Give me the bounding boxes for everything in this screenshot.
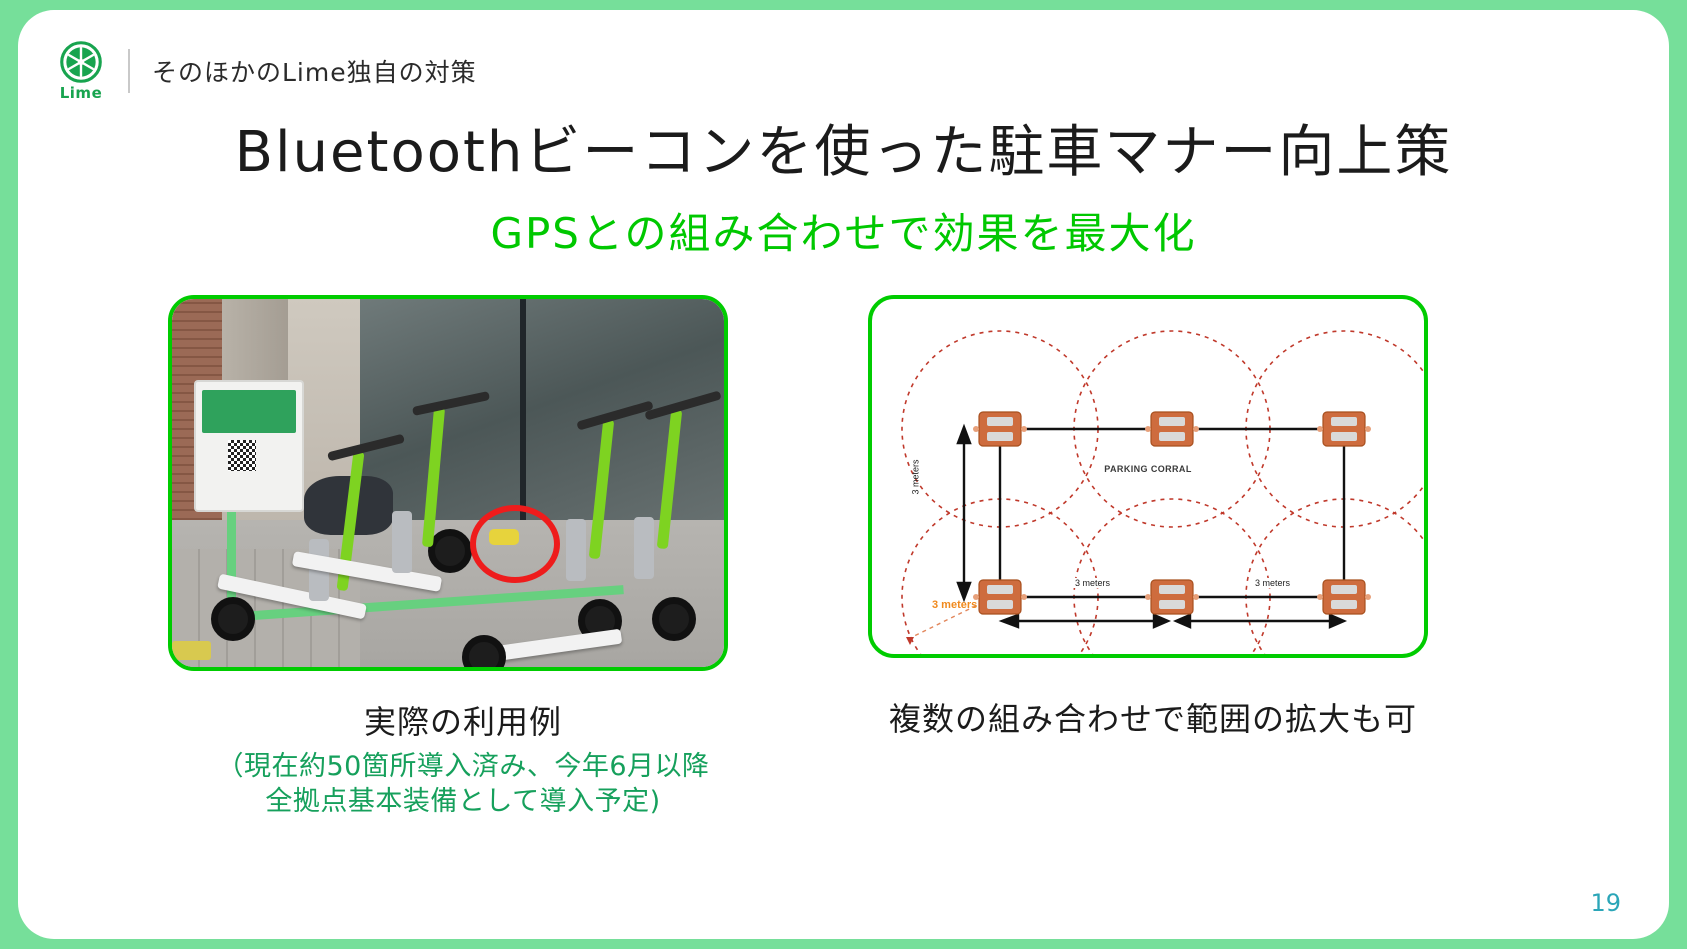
- lime-wordmark: Lime: [60, 86, 103, 101]
- tactile-paving: [172, 641, 211, 659]
- slide-background: Lime そのほかのLime独自の対策 Bluetoothビーコンを使った駐車マ…: [0, 0, 1687, 949]
- horizontal-dimension-arrows: [1002, 615, 1344, 627]
- page-number: 19: [1590, 889, 1621, 917]
- qr-code: [228, 440, 256, 471]
- scooter-battery: [566, 519, 586, 581]
- beacon-device: [1145, 580, 1199, 614]
- diagram-label-horizontal-spacing-right: 3 meters: [1252, 578, 1293, 588]
- scooter-battery: [392, 511, 412, 573]
- right-column: PARKING CORRAL 3 meters 3 meters 3 meter…: [868, 295, 1438, 740]
- page-subtitle: GPSとの組み合わせで効果を最大化: [18, 200, 1669, 261]
- scooter-wheel: [428, 529, 472, 573]
- red-circle-highlight: [470, 505, 560, 583]
- breadcrumb: そのほかのLime独自の対策: [152, 53, 477, 89]
- right-caption-main: 複数の組み合わせで範囲の拡大も可: [868, 694, 1438, 740]
- scooter-wheel: [652, 597, 696, 641]
- photo-content: [172, 299, 724, 667]
- green-parking-marking-vertical: [227, 512, 236, 608]
- left-caption-sub-line1: （現在約50箇所導入済み、今年6月以降: [168, 749, 758, 784]
- scooter-wheel: [462, 635, 506, 671]
- slide-panel: Lime そのほかのLime独自の対策 Bluetoothビーコンを使った駐車マ…: [18, 10, 1669, 939]
- lime-a-frame-sign: [194, 380, 304, 512]
- lime-citrus-icon: [59, 40, 103, 84]
- header-divider: [128, 49, 130, 93]
- beacon-device: [973, 412, 1027, 446]
- page-title: Bluetoothビーコンを使った駐車マナー向上策: [18, 107, 1669, 188]
- lime-scooter-parking-photo: [168, 295, 728, 671]
- diagram-label-horizontal-spacing-left: 3 meters: [1072, 578, 1113, 588]
- left-caption-main: 実際の利用例: [168, 697, 758, 743]
- beacon-devices: [973, 412, 1371, 614]
- diagram-label-vertical-spacing: 3 meters: [911, 459, 921, 494]
- diagram-label-radius: 3 meters: [932, 599, 977, 611]
- slide-header: Lime そのほかのLime独自の対策: [48, 40, 477, 101]
- left-caption-sub: （現在約50箇所導入済み、今年6月以降 全拠点基本装備として導入予定): [168, 749, 758, 819]
- scooter-wheel: [211, 597, 255, 641]
- left-caption-sub-line2: 全拠点基本装備として導入予定): [168, 784, 758, 819]
- beacon-device: [1317, 580, 1371, 614]
- beacon-device: [1317, 412, 1371, 446]
- sign-header-band: [202, 390, 296, 434]
- parking-corral-beacon-layout-diagram: PARKING CORRAL 3 meters 3 meters 3 meter…: [868, 295, 1428, 658]
- diagram-content: PARKING CORRAL 3 meters 3 meters 3 meter…: [872, 299, 1424, 654]
- vertical-dimension-arrow: [958, 427, 970, 599]
- left-column: 実際の利用例 （現在約50箇所導入済み、今年6月以降 全拠点基本装備として導入予…: [168, 295, 758, 819]
- lime-logo: Lime: [48, 40, 114, 101]
- beacon-device: [973, 580, 1027, 614]
- diagram-label-parking-corral: PARKING CORRAL: [1104, 464, 1191, 474]
- scooter-battery: [634, 517, 654, 579]
- beacon-device: [1145, 412, 1199, 446]
